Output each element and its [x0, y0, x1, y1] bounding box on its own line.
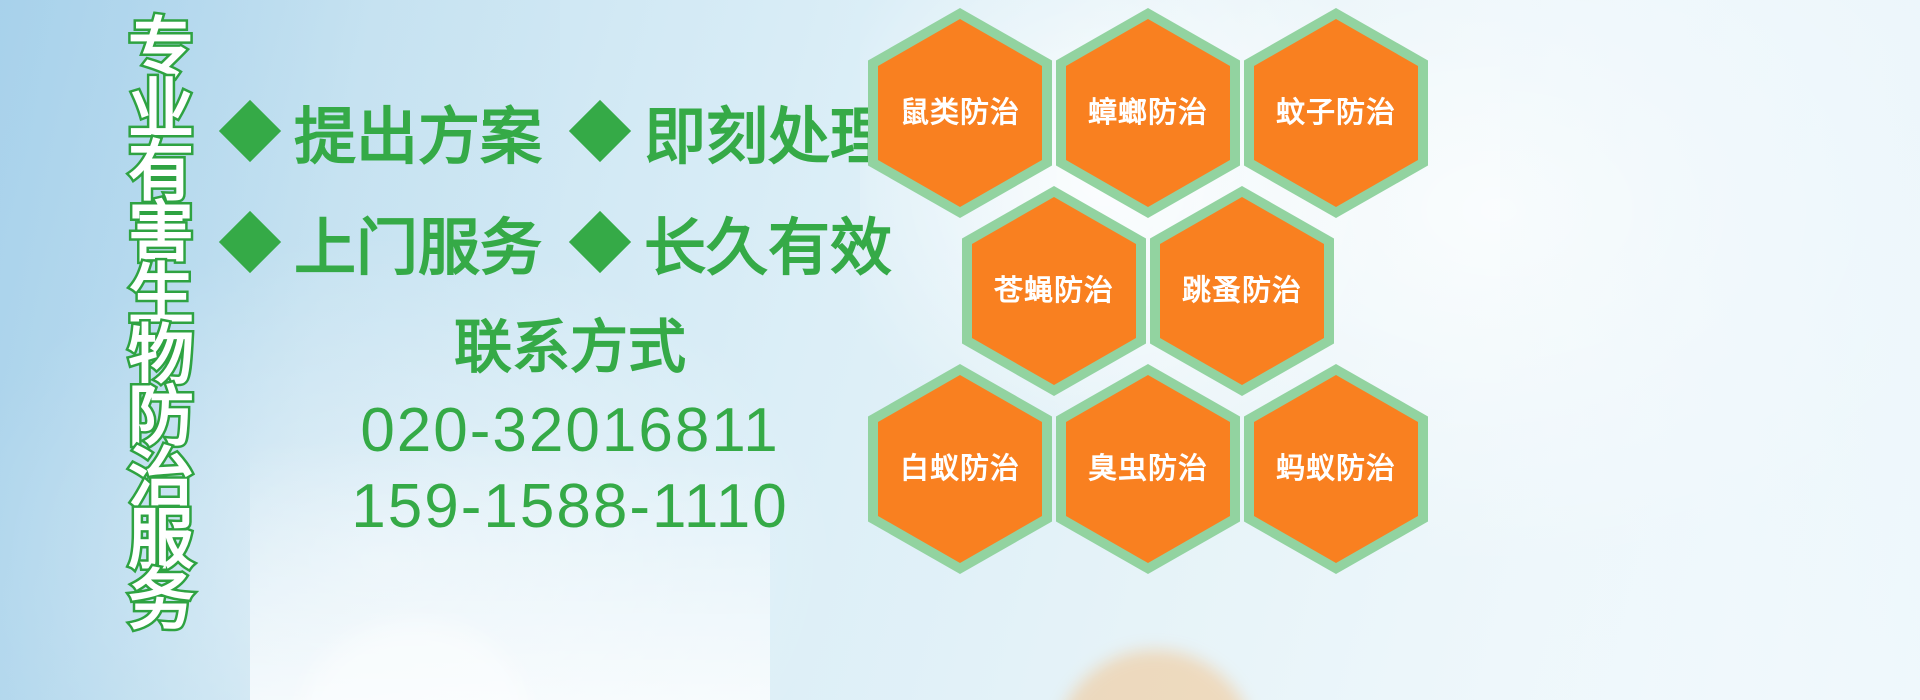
service-label: 跳蚤防治: [1182, 277, 1302, 306]
vertical-headline-char-9: 服: [128, 509, 194, 570]
contact-phone-landline[interactable]: 020-32016811: [290, 393, 850, 469]
service-hex-inner: 臭虫防治: [1066, 375, 1230, 563]
diamond-icon: [219, 100, 281, 162]
service-hex-cockroach[interactable]: 蟑螂防治: [1056, 8, 1240, 218]
service-label: 鼠类防治: [900, 99, 1020, 128]
diamond-icon: [219, 211, 281, 273]
service-hex-inner: 跳蚤防治: [1160, 197, 1324, 385]
vertical-headline-char-6: 物: [128, 325, 194, 386]
feature-item-onsite-service: 上门服务: [294, 197, 542, 287]
service-label: 蟑螂防治: [1088, 99, 1208, 128]
background-blob-white: [300, 620, 530, 700]
vertical-headline-char-1: 专: [128, 18, 194, 79]
feature-row-1: 提出方案 即刻处理: [228, 86, 892, 176]
service-label: 蚂蚁防治: [1276, 455, 1396, 484]
pest-control-banner: 专 业 有 害 生 物 防 治 服 务 提出方案 即刻处理 上门服务 长久有效 …: [0, 0, 1920, 700]
service-honeycomb: 鼠类防治 蟑螂防治 蚊子防治 苍蝇防治 跳蚤防治 白蚁防治: [860, 0, 1480, 700]
feature-row-2: 上门服务 长久有效: [228, 197, 892, 287]
vertical-headline-char-5: 生: [128, 264, 194, 325]
diamond-icon: [569, 100, 631, 162]
vertical-headline-char-4: 害: [128, 202, 194, 263]
service-hex-flea[interactable]: 跳蚤防治: [1150, 186, 1334, 396]
service-hex-inner: 蚂蚁防治: [1254, 375, 1418, 563]
feature-item-immediate-handling: 即刻处理: [644, 86, 892, 176]
service-hex-ant[interactable]: 蚂蚁防治: [1244, 364, 1428, 574]
service-hex-bedbug[interactable]: 臭虫防治: [1056, 364, 1240, 574]
service-hex-termite[interactable]: 白蚁防治: [868, 364, 1052, 574]
feature-item-long-lasting: 长久有效: [644, 197, 892, 287]
service-hex-fly[interactable]: 苍蝇防治: [962, 186, 1146, 396]
contact-block: 联系方式 020-32016811 159-1588-1110: [290, 318, 850, 544]
vertical-headline-char-7: 防: [128, 386, 194, 447]
service-label: 苍蝇防治: [994, 277, 1114, 306]
service-label: 臭虫防治: [1088, 455, 1208, 484]
vertical-headline: 专 业 有 害 生 物 防 治 服 务: [106, 18, 216, 578]
diamond-icon: [569, 211, 631, 273]
service-hex-rodent[interactable]: 鼠类防治: [868, 8, 1052, 218]
service-hex-inner: 白蚁防治: [878, 375, 1042, 563]
service-label: 蚊子防治: [1276, 99, 1396, 128]
vertical-headline-char-10: 务: [128, 570, 194, 631]
service-hex-inner: 鼠类防治: [878, 19, 1042, 207]
vertical-headline-char-2: 业: [128, 79, 194, 140]
vertical-headline-char-8: 治: [128, 448, 194, 509]
vertical-headline-char-3: 有: [128, 141, 194, 202]
service-hex-inner: 蟑螂防治: [1066, 19, 1230, 207]
service-label: 白蚁防治: [900, 455, 1020, 484]
contact-title: 联系方式: [290, 318, 850, 379]
contact-phone-mobile[interactable]: 159-1588-1110: [290, 469, 850, 545]
background-streak-right: [1500, 0, 1920, 700]
feature-item-propose-plan: 提出方案: [294, 86, 542, 176]
service-hex-mosquito[interactable]: 蚊子防治: [1244, 8, 1428, 218]
service-hex-inner: 蚊子防治: [1254, 19, 1418, 207]
service-hex-inner: 苍蝇防治: [972, 197, 1136, 385]
